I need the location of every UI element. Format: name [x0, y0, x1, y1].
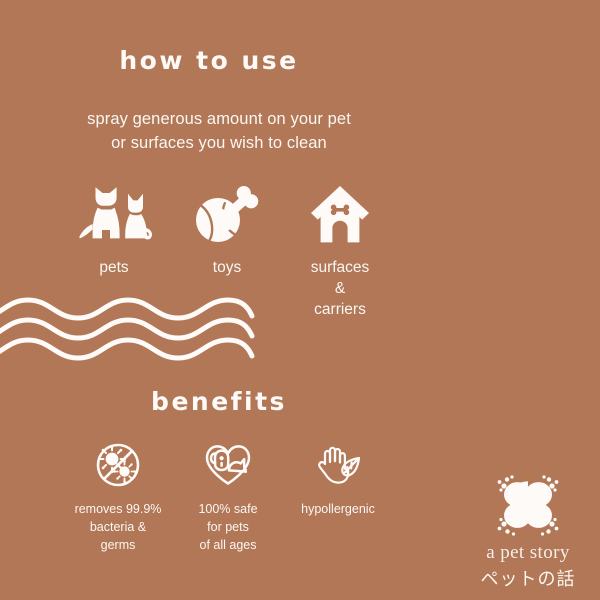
usage-item-pets: pets — [62, 184, 166, 279]
instruction-line-1: spray generous amount on your pet — [0, 108, 519, 132]
wavy-lines-decoration — [0, 296, 260, 367]
usage-item-toys: toys — [175, 184, 279, 279]
usage-item-surfaces: surfaces & carriers — [288, 184, 392, 321]
brand-name: a pet story — [486, 542, 570, 564]
benefit-item-removes-germs: removes 99.9% bacteria & germs — [68, 440, 168, 554]
hand-with-leaf-icon — [314, 440, 362, 490]
how-to-use-heading: how to use — [0, 46, 509, 75]
instructions-text: spray generous amount on your pet or sur… — [0, 108, 519, 156]
benefit-safe-for-pets-line2: for pets — [207, 520, 249, 534]
usage-label-pets: pets — [99, 258, 128, 279]
usage-label-surfaces-line2: & — [335, 280, 345, 297]
benefit-removes-germs-line1: removes 99.9% — [75, 502, 162, 516]
benefit-removes-germs-line3: germs — [101, 538, 136, 552]
benefit-label-hypollergenic: hypollergenic — [301, 500, 375, 518]
ball-and-bone-icon — [194, 184, 260, 246]
benefits-heading: benefits — [0, 387, 519, 416]
dog-and-cat-icon — [75, 184, 153, 246]
dog-in-heart-icon — [203, 440, 253, 490]
poster-canvas: how to use spray generous amount on your… — [0, 0, 600, 600]
usage-label-surfaces-line1: surfaces — [311, 259, 370, 276]
benefit-item-safe-for-pets: 100% safe for pets of all ages — [178, 440, 278, 554]
no-germs-icon — [95, 440, 141, 490]
benefit-removes-germs-line2: bacteria & — [90, 520, 146, 534]
brand-logo: a pet story ペットの話 — [466, 474, 590, 591]
usage-label-toys: toys — [213, 258, 241, 279]
benefits-items-row: removes 99.9% bacteria & germs — [68, 440, 388, 554]
benefit-label-safe-for-pets: 100% safe for pets of all ages — [198, 500, 257, 554]
brand-name-japanese: ペットの話 — [481, 565, 576, 591]
benefit-hypollergenic-line1: hypollergenic — [301, 502, 375, 516]
benefit-safe-for-pets-line1: 100% safe — [198, 502, 257, 516]
benefit-safe-for-pets-line3: of all ages — [200, 538, 257, 552]
usage-label-surfaces: surfaces & carriers — [311, 258, 370, 321]
clover-paw-logo-icon — [490, 474, 566, 538]
instruction-line-2: or surfaces you wish to clean — [0, 132, 519, 156]
dog-house-icon — [309, 184, 371, 246]
benefit-item-hypollergenic: hypollergenic — [288, 440, 388, 518]
usage-label-surfaces-line3: carriers — [314, 301, 366, 318]
benefit-label-removes-germs: removes 99.9% bacteria & germs — [75, 500, 162, 554]
